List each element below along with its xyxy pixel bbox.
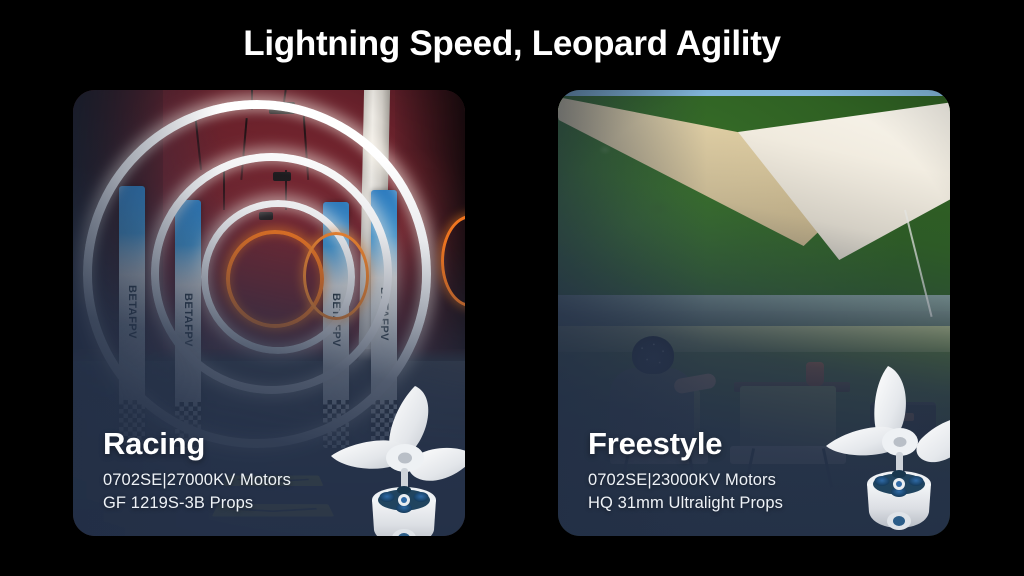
racing-card-text: Racing 0702SE|27000KV Motors GF 1219S-3B…: [103, 428, 291, 514]
freestyle-heading: Freestyle: [588, 428, 783, 461]
freestyle-card-text: Freestyle 0702SE|23000KV Motors HQ 31mm …: [588, 428, 783, 514]
racing-spec-line-2: GF 1219S-3B Props: [103, 492, 291, 514]
propeller-motor-overlay: [826, 360, 950, 530]
racing-spec-line-1: 0702SE|27000KV Motors: [103, 469, 291, 491]
freestyle-card[interactable]: Freestyle 0702SE|23000KV Motors HQ 31mm …: [558, 90, 950, 536]
freestyle-spec-line-1: 0702SE|23000KV Motors: [588, 469, 783, 491]
racing-heading: Racing: [103, 428, 291, 461]
racing-card[interactable]: BETAFPV BETAFPV BETAFPV BETAFPV: [73, 90, 465, 536]
page-title: Lightning Speed, Leopard Agility: [0, 26, 1024, 61]
freestyle-spec-line-2: HQ 31mm Ultralight Props: [588, 492, 783, 514]
propeller-motor-overlay: [329, 378, 465, 536]
